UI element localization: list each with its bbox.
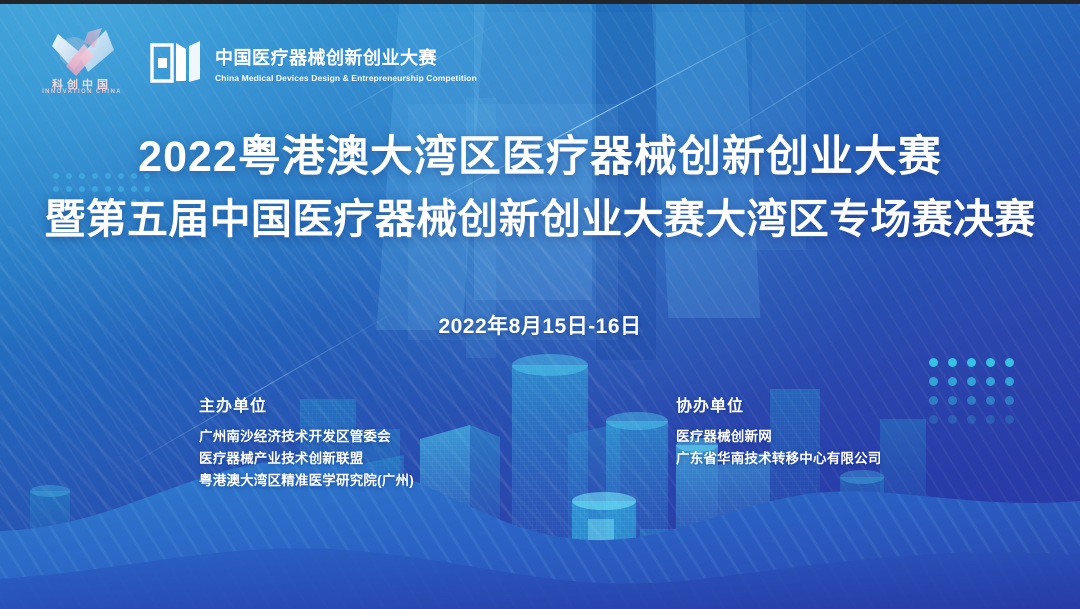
co-organizer-item: 广东省华南技术转移中心有限公司: [676, 448, 882, 470]
host-organizer-item: 广州南沙经济技术开发区管委会: [199, 426, 414, 448]
co-organizer-block: 协办单位 医疗器械创新网 广东省华南技术转移中心有限公司: [676, 392, 882, 470]
co-organizer-heading: 协办单位: [676, 392, 882, 416]
open-door-icon: [150, 41, 202, 85]
poster-title-line-2: 暨第五届中国医疗器械创新创业大赛大湾区专场赛决赛: [0, 195, 1080, 243]
poster-title-line-1: 2022粤港澳大湾区医疗器械创新创业大赛: [0, 132, 1080, 183]
poster-title-block: 2022粤港澳大湾区医疗器械创新创业大赛 暨第五届中国医疗器械创新创业大赛大湾区…: [0, 132, 1080, 243]
top-edge-bar: [0, 0, 1080, 4]
host-organizer-item: 粤港澳大湾区精准医学研究院(广州): [199, 470, 414, 492]
innovation-china-en-text: INNOVATION CHINA: [36, 89, 128, 95]
event-date: 2022年8月15日-16日: [0, 310, 1080, 340]
host-organizer-block: 主办单位 广州南沙经济技术开发区管委会 医疗器械产业技术创新联盟 粤港澳大湾区精…: [199, 392, 414, 492]
innovation-china-logo: 科创中国 INNOVATION CHINA: [36, 26, 128, 100]
host-organizer-heading: 主办单位: [199, 392, 414, 416]
innovation-china-bird-mark: [44, 26, 120, 78]
poster-header: 科创中国 INNOVATION CHINA 中国医疗器械创新创业大赛 China…: [36, 26, 477, 100]
competition-logo: 中国医疗器械创新创业大赛 China Medical Devices Desig…: [150, 41, 477, 85]
competition-logo-en: China Medical Devices Design & Entrepren…: [215, 73, 477, 83]
competition-logo-cn: 中国医疗器械创新创业大赛: [215, 44, 477, 70]
co-organizer-item: 医疗器械创新网: [676, 426, 882, 448]
event-poster: 科创中国 INNOVATION CHINA 中国医疗器械创新创业大赛 China…: [0, 0, 1080, 609]
host-organizer-item: 医疗器械产业技术创新联盟: [199, 448, 414, 470]
competition-logo-text: 中国医疗器械创新创业大赛 China Medical Devices Desig…: [215, 44, 477, 83]
